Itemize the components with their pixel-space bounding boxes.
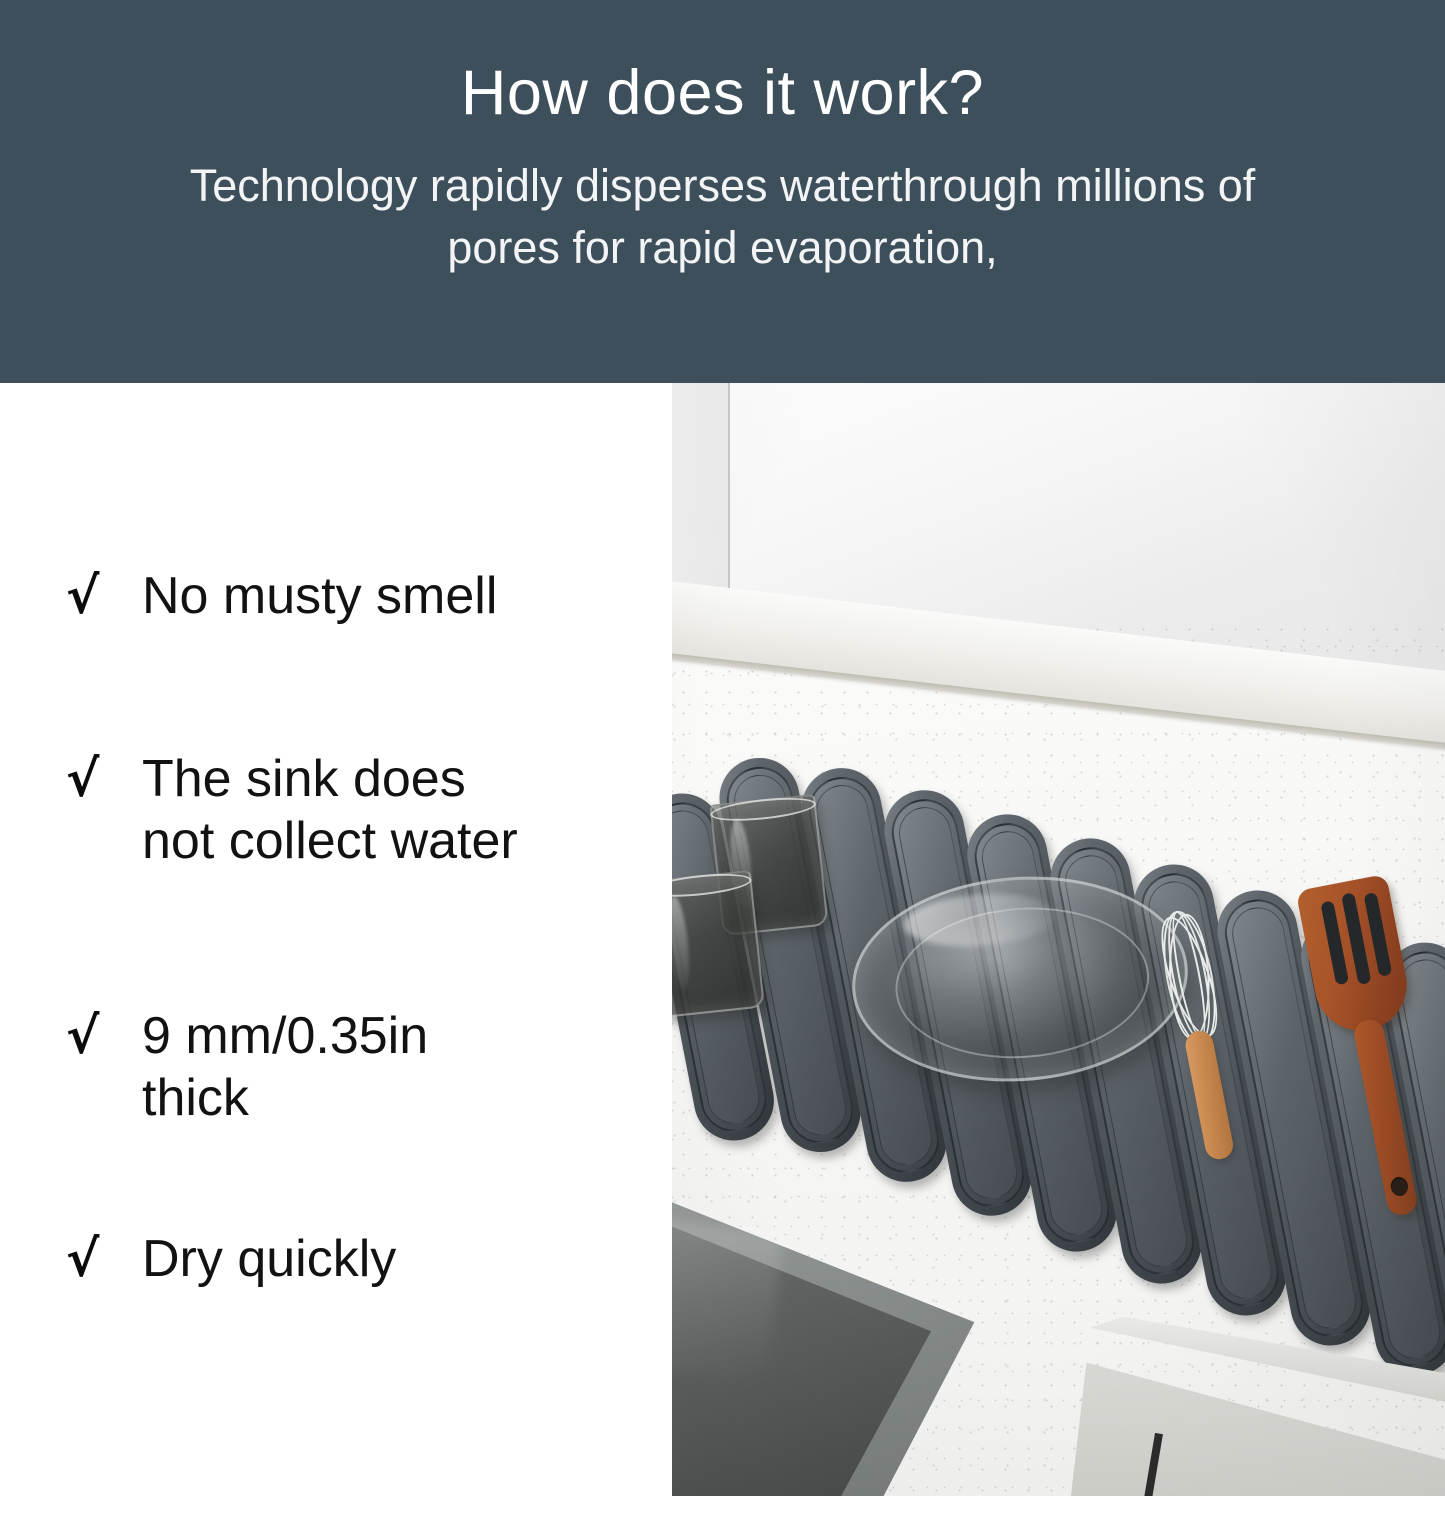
- list-item-label: Dry quickly: [142, 1228, 666, 1290]
- list-item-label: No musty smell: [142, 565, 666, 627]
- list-item: √ 9 mm/0.35in thick: [66, 1005, 666, 1130]
- page-title: How does it work?: [461, 62, 984, 125]
- page-subtitle: Technology rapidly disperses waterthroug…: [173, 155, 1273, 279]
- photo-bottom-strip: [672, 1496, 1445, 1525]
- whisk-handle: [1183, 1029, 1235, 1162]
- list-item-label: 9 mm/0.35in thick: [142, 1005, 666, 1130]
- tumbler-highlight: [672, 895, 693, 990]
- list-item: √ No musty smell: [66, 565, 666, 627]
- product-photo: [672, 383, 1445, 1496]
- header-banner: How does it work? Technology rapidly dis…: [0, 0, 1445, 383]
- list-item: √ The sink does not collect water: [66, 748, 666, 873]
- stainless-sink: [672, 1143, 989, 1496]
- glass-tumbler: [672, 870, 765, 1018]
- check-icon: √: [66, 1005, 142, 1066]
- feature-list: √ No musty smell √ The sink does not col…: [0, 383, 672, 1525]
- list-item: √ Dry quickly: [66, 1228, 666, 1290]
- check-icon: √: [66, 1228, 142, 1289]
- check-icon: √: [66, 748, 142, 809]
- sink-basin-highlight: [672, 1206, 783, 1383]
- spatula-handle: [1352, 1017, 1419, 1217]
- check-icon: √: [66, 565, 142, 626]
- list-item-label: The sink does not collect water: [142, 748, 666, 873]
